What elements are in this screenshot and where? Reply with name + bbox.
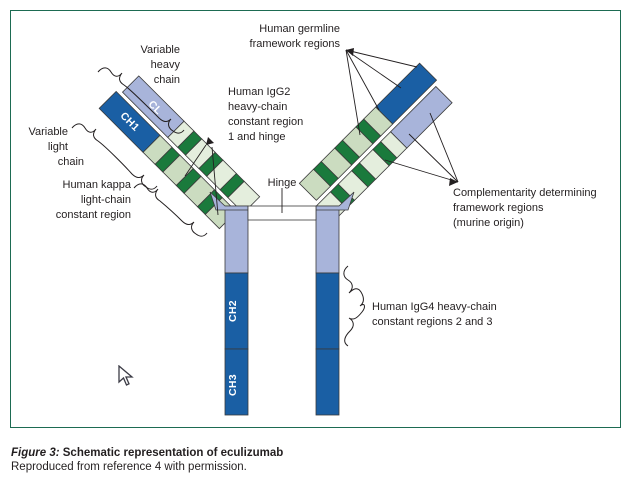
label-human-kappa: Human kappa light-chain constant region <box>56 179 132 221</box>
svg-text:framework regions: framework regions <box>453 202 544 214</box>
label-cdr: Complementarity determining framework re… <box>453 187 597 229</box>
svg-text:heavy-chain: heavy-chain <box>228 101 287 113</box>
ch2-label: CH2 <box>227 300 239 322</box>
svg-text:Human IgG4 heavy-chain: Human IgG4 heavy-chain <box>372 301 497 313</box>
right-ch3-block <box>316 349 339 415</box>
svg-text:constant region: constant region <box>56 209 131 221</box>
svg-text:Human germline: Human germline <box>259 23 340 35</box>
left-stem-hinge-upper <box>225 206 248 273</box>
figure-title: Schematic representation of eculizumab <box>63 447 283 459</box>
caption-title-line: Figure 3: Schematic representation of ec… <box>11 446 611 460</box>
label-variable-heavy-chain: Variable heavy chain <box>140 44 180 86</box>
right-stem-hinge-upper <box>316 206 339 273</box>
svg-text:(murine origin): (murine origin) <box>453 217 524 229</box>
svg-text:light-chain: light-chain <box>81 194 131 206</box>
svg-text:chain: chain <box>58 156 84 168</box>
mouse-cursor <box>118 365 134 387</box>
svg-text:Variable: Variable <box>28 126 68 138</box>
brace-igg4-constant <box>344 266 365 346</box>
svg-text:light: light <box>48 141 68 153</box>
label-hinge: Hinge <box>268 177 297 189</box>
figure-panel: CH1 CL <box>0 0 633 485</box>
antibody-schematic: CH1 CL <box>10 10 621 428</box>
label-human-igg2: Human IgG2 heavy-chain constant region 1… <box>228 86 303 143</box>
svg-text:framework regions: framework regions <box>250 38 341 50</box>
svg-text:1 and hinge: 1 and hinge <box>228 131 286 143</box>
figure-credit: Reproduced from reference 4 with permiss… <box>11 460 611 475</box>
right-ch2-block <box>316 273 339 349</box>
label-human-germline: Human germline framework regions <box>250 23 341 50</box>
svg-text:Complementarity determining: Complementarity determining <box>453 187 597 199</box>
figure-caption: Figure 3: Schematic representation of ec… <box>11 446 611 475</box>
figure-number: Figure 3: <box>11 447 60 459</box>
svg-text:heavy: heavy <box>151 59 181 71</box>
ch3-label: CH3 <box>227 374 239 396</box>
svg-text:Variable: Variable <box>140 44 180 56</box>
svg-text:constant region: constant region <box>228 116 303 128</box>
svg-text:Human kappa: Human kappa <box>63 179 132 191</box>
svg-text:constant regions 2 and 3: constant regions 2 and 3 <box>372 316 492 328</box>
label-human-igg4: Human IgG4 heavy-chain constant regions … <box>372 301 497 328</box>
svg-text:Human IgG2: Human IgG2 <box>228 86 290 98</box>
label-variable-light-chain: Variable light chain <box>28 126 84 168</box>
svg-text:chain: chain <box>154 74 180 86</box>
